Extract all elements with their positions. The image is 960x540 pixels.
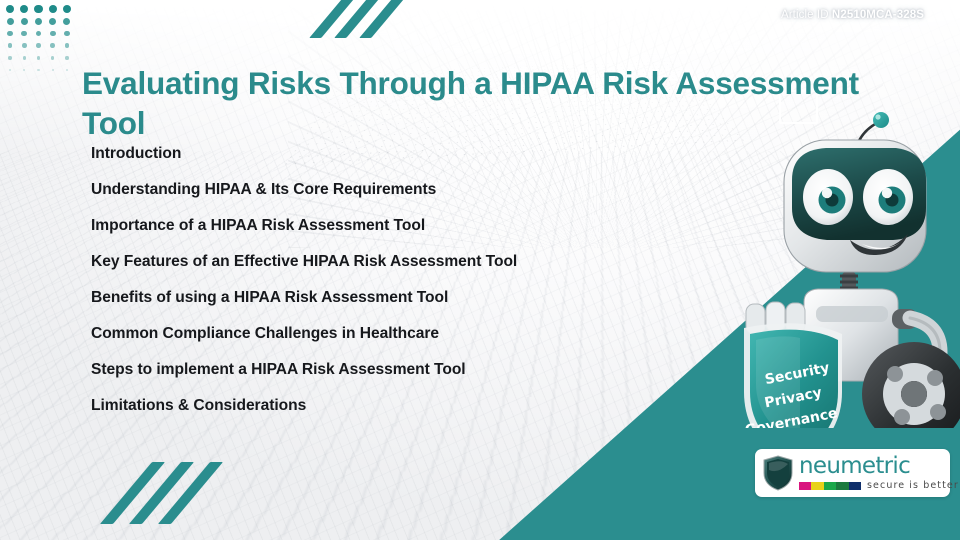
agenda-item: Common Compliance Challenges in Healthca… <box>91 316 691 352</box>
agenda-item: Key Features of an Effective HIPAA Risk … <box>91 244 691 280</box>
shield: Security Privacy Governance Compliance <box>743 323 842 428</box>
robot-antenna-ball <box>873 112 889 128</box>
agenda-item: Importance of a HIPAA Risk Assessment To… <box>91 208 691 244</box>
logo-tagline: secure is better <box>867 480 959 491</box>
article-id-label: Article ID <box>781 9 829 21</box>
diagonal-slashes-bottom <box>126 462 244 524</box>
agenda-item: Introduction <box>91 136 691 172</box>
diagonal-slashes-top <box>326 0 438 38</box>
slide-canvas: Article ID N2510MCA-328S Evaluating Risk… <box>0 0 960 540</box>
agenda-list: IntroductionUnderstanding HIPAA & Its Co… <box>91 136 691 424</box>
agenda-item: Limitations & Considerations <box>91 388 691 424</box>
article-id: Article ID N2510MCA-328S <box>781 9 924 21</box>
logo-wordmark: neumetric <box>799 455 959 478</box>
logo-color-bar <box>799 482 861 490</box>
agenda-item: Benefits of using a HIPAA Risk Assessmen… <box>91 280 691 316</box>
agenda-item: Steps to implement a HIPAA Risk Assessme… <box>91 352 691 388</box>
neumetric-logo[interactable]: neumetric secure is better <box>755 449 950 497</box>
shield-logo-icon <box>763 455 793 491</box>
robot-mascot-illustration: Security Privacy Governance Compliance <box>742 106 960 428</box>
corner-dot-grid <box>6 5 78 79</box>
article-id-value: N2510MCA-328S <box>832 9 924 21</box>
agenda-item: Understanding HIPAA & Its Core Requireme… <box>91 172 691 208</box>
